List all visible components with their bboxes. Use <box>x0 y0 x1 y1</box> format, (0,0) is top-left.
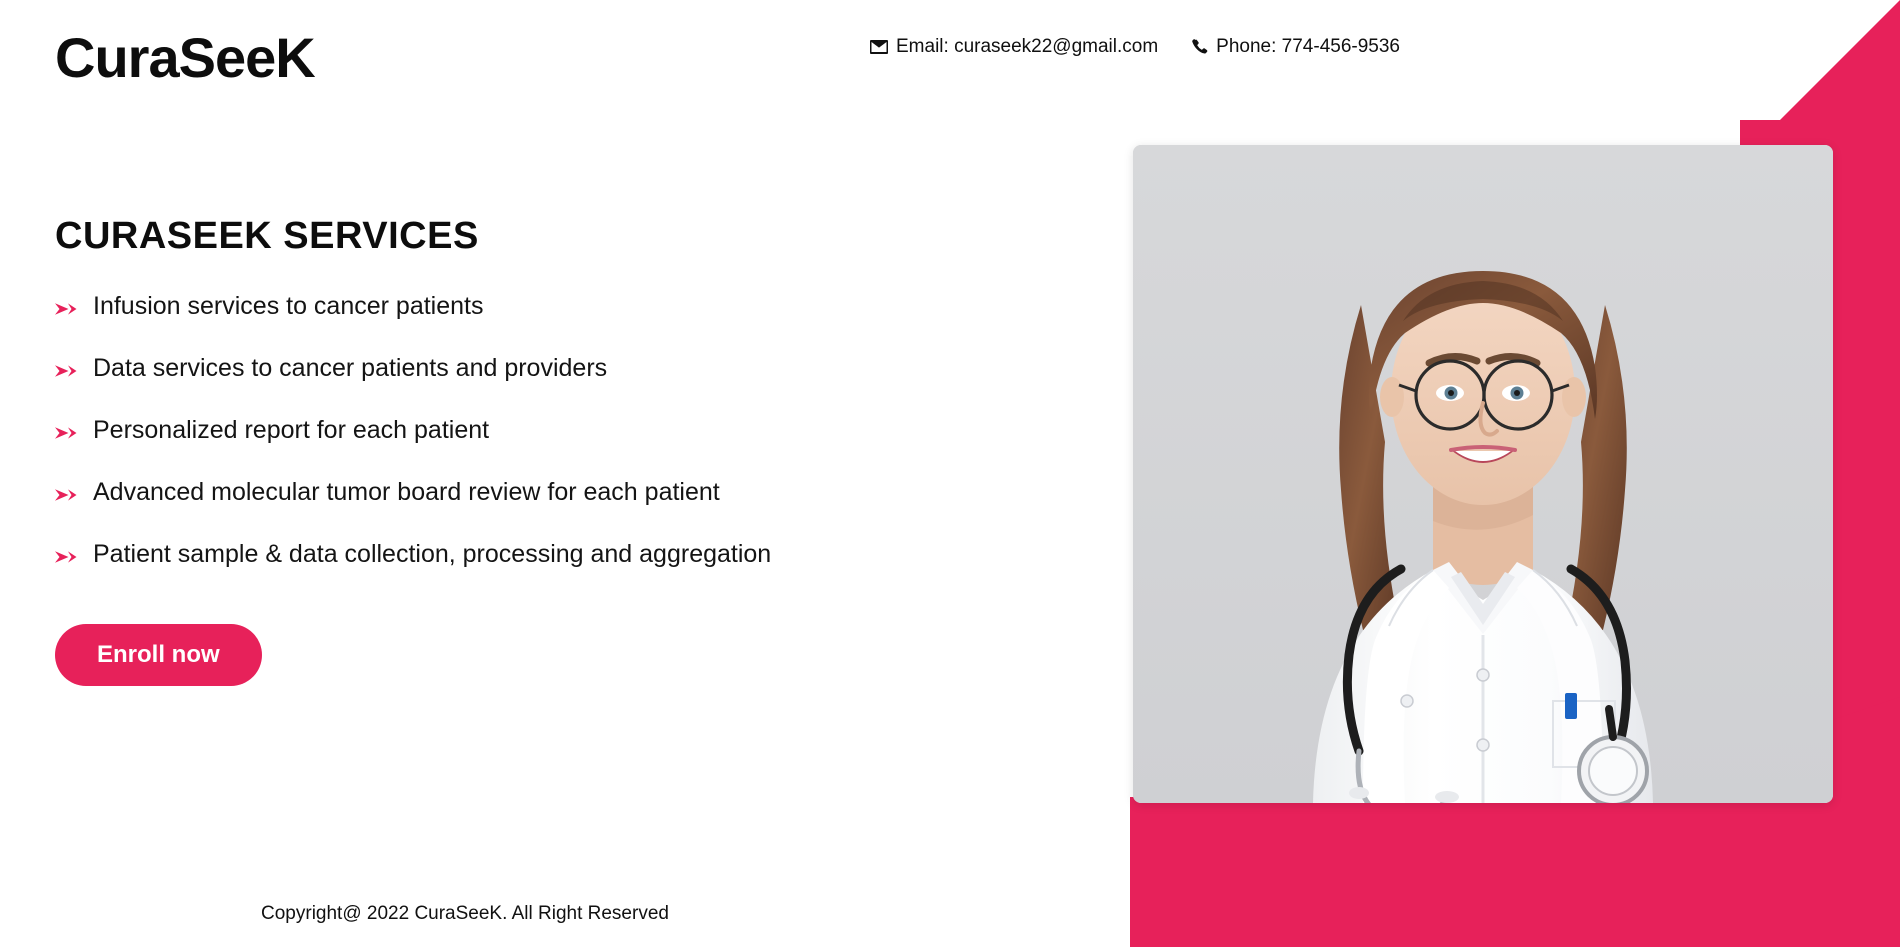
enroll-now-button[interactable]: Enroll now <box>55 624 262 686</box>
page-footer: Copyright@ 2022 CuraSeeK. All Right Rese… <box>0 903 930 925</box>
contact-bar: Email: curaseek22@gmail.com Phone: 774-4… <box>870 36 1400 58</box>
arrow-right-icon <box>55 549 77 570</box>
list-item-label: Personalized report for each patient <box>93 416 489 445</box>
copyright-text: Copyright@ 2022 CuraSeeK. All Right Rese… <box>261 903 669 924</box>
list-item-label: Patient sample & data collection, proces… <box>93 540 771 569</box>
envelope-icon <box>870 40 888 54</box>
list-item: Advanced molecular tumor board review fo… <box>55 478 985 508</box>
contact-email[interactable]: Email: curaseek22@gmail.com <box>870 36 1158 58</box>
contact-phone[interactable]: Phone: 774-456-9536 <box>1192 36 1400 58</box>
contact-phone-label: Phone: 774-456-9536 <box>1216 36 1400 58</box>
arrow-right-icon <box>55 301 77 322</box>
brand-logo[interactable]: CuraSeeK <box>55 30 315 86</box>
list-item: Data services to cancer patients and pro… <box>55 354 985 384</box>
page-header: CuraSeeK Email: curaseek22@gmail.com Pho… <box>0 0 1900 110</box>
services-section: CURASEEK SERVICES Infusion services to c… <box>55 215 985 686</box>
list-item: Patient sample & data collection, proces… <box>55 540 985 570</box>
landing-page: CuraSeeK Email: curaseek22@gmail.com Pho… <box>0 0 1900 947</box>
doctor-portrait-illustration <box>1133 145 1833 803</box>
list-item-label: Advanced molecular tumor board review fo… <box>93 478 720 507</box>
list-item-label: Data services to cancer patients and pro… <box>93 354 607 383</box>
page-title: CURASEEK SERVICES <box>55 215 985 258</box>
list-item: Personalized report for each patient <box>55 416 985 446</box>
arrow-right-icon <box>55 363 77 384</box>
contact-email-label: Email: curaseek22@gmail.com <box>896 36 1158 58</box>
decorative-block-bottom-right <box>1130 797 1900 947</box>
services-list: Infusion services to cancer patients Dat… <box>55 292 985 570</box>
arrow-right-icon <box>55 425 77 446</box>
list-item-label: Infusion services to cancer patients <box>93 292 483 321</box>
arrow-right-icon <box>55 487 77 508</box>
list-item: Infusion services to cancer patients <box>55 292 985 322</box>
phone-icon <box>1192 39 1208 55</box>
doctor-portrait <box>1133 145 1833 803</box>
